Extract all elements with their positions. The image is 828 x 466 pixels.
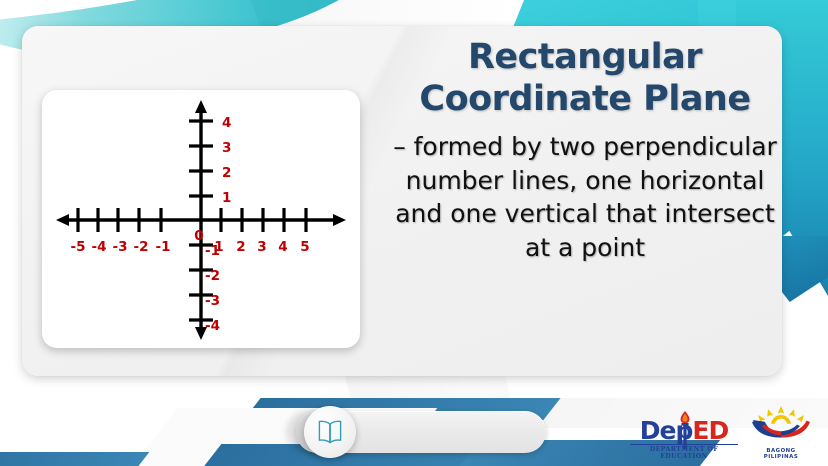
title-line-1: Rectangular [386,36,784,78]
x-tick-label: -1 [156,239,171,255]
y-tick-label: -3 [205,293,220,309]
book-badge [304,406,356,458]
torch-icon [677,411,693,453]
origin-label: 0 [194,228,203,244]
x-tick-label: 2 [236,239,245,255]
definition-text: – formed by two perpendicular number lin… [386,130,784,264]
x-tick-label: -4 [92,239,107,255]
x-tick-label: -3 [113,239,128,255]
y-tick-label: 4 [222,115,231,131]
page-title: Rectangular Coordinate Plane [386,28,784,120]
y-tick-label: -2 [205,268,220,284]
x-tick-label: -2 [134,239,149,255]
y-tick-label: 3 [222,140,231,156]
x-tick-label: 3 [257,239,266,255]
coordinate-plane-figure: -5 -4 -3 -2 -1 1 2 3 4 5 0 4 3 2 1 -1 -2 [42,90,360,348]
x-tick-label: 4 [278,239,287,255]
y-tick-label: -1 [205,243,220,259]
slide: -5 -4 -3 -2 -1 1 2 3 4 5 0 4 3 2 1 -1 -2 [0,0,828,466]
text-column: Rectangular Coordinate Plane – formed by… [386,28,784,264]
x-axis-labels: -5 -4 -3 -2 -1 1 2 3 4 5 [71,239,310,255]
bagong-pilipinas-icon [750,406,812,442]
y-axis-labels: 4 3 2 1 -1 -2 -3 -4 [205,115,231,334]
blue-ribbon-far-left [0,452,149,466]
x-tick-label: 5 [300,239,309,255]
deped-ed-text: ED [692,416,728,445]
bagong-pilipinas-label: BAGONG PILIPINAS [748,448,814,460]
coordinate-plane-svg: -5 -4 -3 -2 -1 1 2 3 4 5 0 4 3 2 1 -1 -2 [42,90,360,348]
x-tick-label: -5 [71,239,86,255]
footer-logos: DepED DEPARTMENT OF EDUCATION [630,406,814,460]
swoosh-mask [0,0,404,28]
sun-rays [758,406,804,422]
y-tick-label: 1 [222,190,231,206]
bagong-pilipinas-logo: BAGONG PILIPINAS [748,406,814,460]
open-book-icon [315,419,345,445]
title-line-2: Coordinate Plane [386,78,784,120]
y-tick-label: -4 [205,318,220,334]
y-tick-label: 2 [222,165,231,181]
deped-logo: DepED DEPARTMENT OF EDUCATION [630,418,738,461]
